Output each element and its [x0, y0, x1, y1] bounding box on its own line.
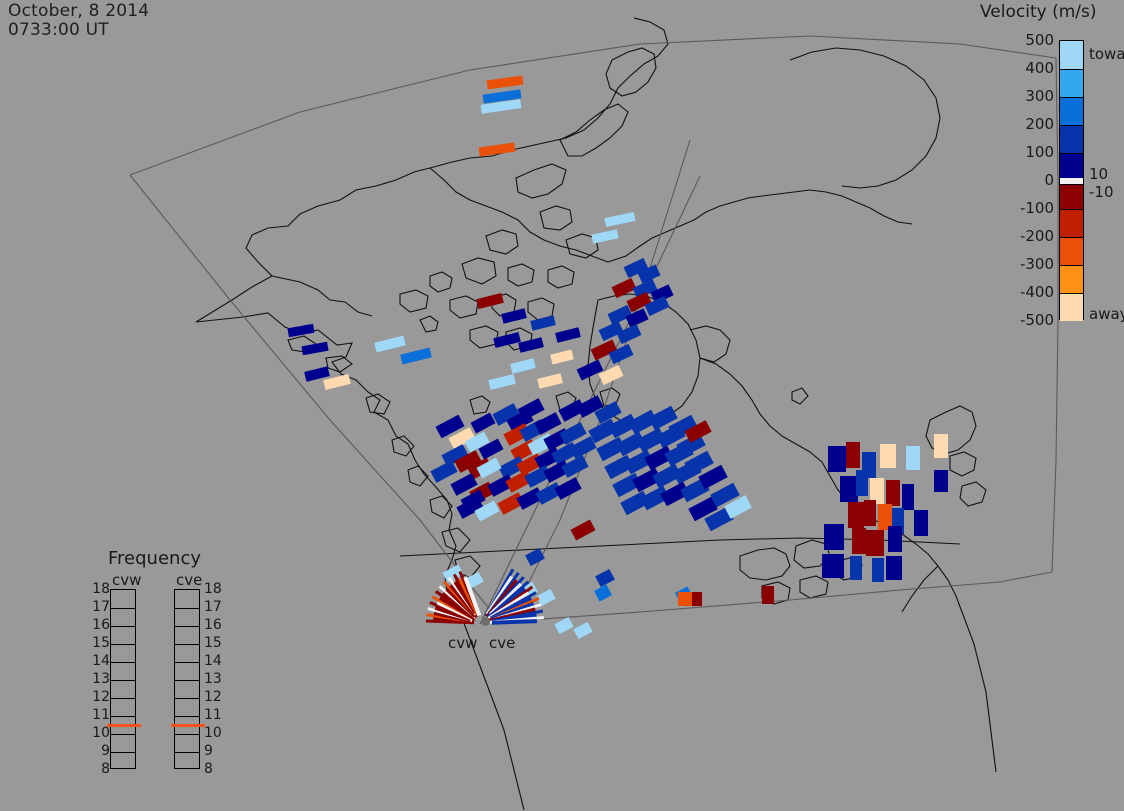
frequency-tick-w-17: 17	[92, 601, 110, 613]
colorbar-band-3	[1060, 125, 1083, 153]
frequency-marker-w	[107, 724, 141, 727]
colorbar-tick-500: 500	[1025, 34, 1054, 46]
frequency-tick-e-17: 17	[204, 601, 222, 613]
frequency-tick-e-11: 11	[204, 709, 222, 721]
colorbar-separator-1	[1060, 97, 1083, 98]
radar-echo-cell	[510, 358, 536, 374]
frequency-bar-cvw	[110, 589, 136, 769]
timestamp-time: 0733:00 UT	[8, 20, 109, 40]
radar-echo-cell	[824, 524, 844, 550]
colorbar-band-7	[1060, 209, 1083, 237]
frequency-segment-w-6	[111, 698, 135, 699]
colorbar-tick-400: 400	[1025, 62, 1054, 74]
colorbar-band-8	[1060, 237, 1083, 265]
frequency-legend-title: Frequency	[108, 548, 201, 569]
radar-echo-cell	[848, 502, 864, 528]
radar-echo-cell	[856, 470, 868, 496]
radar-echo-cell	[400, 348, 432, 365]
colorbar-tick-0: 0	[1044, 174, 1054, 186]
frequency-segment-e-5	[175, 680, 199, 681]
frequency-segment-w-5	[111, 680, 135, 681]
radar-echo-cell	[880, 444, 896, 468]
radar-echo-cell	[678, 592, 692, 606]
frequency-segment-w-1	[111, 608, 135, 609]
velocity-colorbar: Velocity (m/s) 5004003002001000-100-200-…	[976, 2, 1124, 332]
frequency-segment-e-7	[175, 716, 199, 717]
radar-velocity-map: October, 8 20140733:00 UT Velocity (m/s)…	[0, 0, 1124, 811]
radar-echo-cell	[476, 293, 504, 309]
radar-echo-cell	[555, 327, 581, 343]
radar-echo-cell	[850, 556, 862, 580]
colorbar-gradient	[1059, 40, 1084, 320]
frequency-segment-e-1	[175, 608, 199, 609]
frequency-tick-e-15: 15	[204, 637, 222, 649]
colorbar-tick-minus400: -400	[1020, 286, 1054, 298]
colorbar-away-label: away	[1089, 308, 1124, 320]
radar-echo-cell	[934, 470, 948, 492]
frequency-tick-w-10: 10	[92, 727, 110, 739]
frequency-tick-w-12: 12	[92, 691, 110, 703]
radar-echo-cell	[864, 500, 876, 526]
colorbar-separator-0	[1060, 69, 1083, 70]
colorbar-tick-200: 200	[1025, 118, 1054, 130]
frequency-column-label-cvw: cvw	[112, 571, 141, 589]
near-range-radial-fan	[420, 555, 610, 645]
colorbar-separator-3	[1060, 153, 1083, 154]
frequency-segment-e-9	[175, 752, 199, 753]
frequency-segment-e-2	[175, 626, 199, 627]
radar-echo-cell	[554, 477, 581, 500]
frequency-segment-w-3	[111, 644, 135, 645]
radar-echo-cell	[934, 434, 948, 458]
radar-site-label-cve: cve	[489, 634, 515, 652]
frequency-segment-e-4	[175, 662, 199, 663]
radar-echo-cell	[430, 460, 457, 483]
radar-echo-cell	[479, 143, 516, 157]
colorbar-separator-4	[1060, 184, 1083, 185]
radar-site-label-cvw: cvw	[448, 634, 477, 652]
colorbar-band-6	[1060, 184, 1083, 209]
radar-echo-cell	[852, 528, 866, 554]
colorbar-tick-minus300: -300	[1020, 258, 1054, 270]
colorbar-band-0	[1060, 41, 1083, 69]
colorbar-toward-label: toward	[1089, 48, 1124, 60]
radar-echo-cell	[287, 324, 314, 337]
frequency-tick-e-12: 12	[204, 691, 222, 703]
colorbar-tick-minus100: -100	[1020, 202, 1054, 214]
radar-echo-cell	[762, 586, 774, 604]
radar-echo-cell	[470, 413, 495, 434]
frequency-segment-w-9	[111, 752, 135, 753]
colorbar-band-4	[1060, 153, 1083, 178]
radar-echo-cell	[886, 480, 900, 506]
frequency-segment-e-6	[175, 698, 199, 699]
frequency-tick-w-9: 9	[92, 745, 110, 757]
radar-echo-cell	[493, 332, 521, 348]
radar-echo-cell	[501, 308, 527, 324]
radar-echo-cell	[550, 349, 574, 364]
radial-beam	[492, 621, 537, 623]
radar-echo-cell	[488, 374, 516, 390]
frequency-segment-w-2	[111, 626, 135, 627]
frequency-segment-e-3	[175, 644, 199, 645]
colorbar-tick-100: 100	[1025, 146, 1054, 158]
radar-echo-cell	[888, 526, 902, 552]
colorbar-separator-6	[1060, 237, 1083, 238]
radar-echo-cell	[301, 342, 328, 355]
timestamp-date: October, 8 2014	[8, 1, 149, 21]
frequency-tick-w-16: 16	[92, 619, 110, 631]
colorbar-tick-minus200: -200	[1020, 230, 1054, 242]
frequency-segment-e-8	[175, 734, 199, 735]
frequency-column-label-cve: cve	[176, 571, 202, 589]
colorbar-band-2	[1060, 97, 1083, 125]
radar-echo-cell	[822, 554, 844, 578]
frequency-tick-w-13: 13	[92, 673, 110, 685]
colorbar-separator-2	[1060, 125, 1083, 126]
frequency-marker-e	[171, 724, 205, 727]
radar-echo-cell	[872, 558, 884, 582]
frequency-tick-e-13: 13	[204, 673, 222, 685]
frequency-bar-cve	[174, 589, 200, 769]
colorbar-plus-ten-label: 10	[1089, 168, 1108, 180]
radar-echo-cell	[518, 337, 544, 353]
radar-echo-cell	[487, 76, 524, 90]
frequency-tick-e-14: 14	[204, 655, 222, 667]
frequency-segment-w-7	[111, 716, 135, 717]
colorbar-tick-labels: 5004003002001000-100-200-300-400-500	[976, 2, 1054, 332]
radar-echo-cell	[537, 373, 563, 389]
radar-echo-cell	[570, 520, 595, 541]
radar-echo-cell	[591, 229, 618, 243]
frequency-tick-e-8: 8	[204, 763, 222, 775]
colorbar-separator-8	[1060, 293, 1083, 294]
frequency-segment-w-8	[111, 734, 135, 735]
frequency-tick-e-10: 10	[204, 727, 222, 739]
colorbar-tick-minus500: -500	[1020, 314, 1054, 326]
radar-echo-cell	[692, 592, 702, 606]
radar-echo-cell	[886, 556, 902, 580]
radar-echo-cell	[914, 510, 928, 536]
colorbar-band-1	[1060, 69, 1083, 97]
radar-echo-cell	[604, 212, 635, 227]
frequency-tick-w-11: 11	[92, 709, 110, 721]
frequency-tick-w-15: 15	[92, 637, 110, 649]
frequency-tick-e-16: 16	[204, 619, 222, 631]
timestamp: October, 8 20140733:00 UT	[8, 2, 149, 40]
frequency-legend: Frequency cvw cve 18171615141312111098 1…	[86, 548, 256, 783]
colorbar-separator-5	[1060, 209, 1083, 210]
radar-echo-cell	[866, 530, 884, 556]
colorbar-separator-7	[1060, 265, 1083, 266]
frequency-tick-w-8: 8	[92, 763, 110, 775]
radar-echo-cell	[906, 446, 920, 470]
colorbar-minus-ten-label: -10	[1089, 186, 1114, 198]
radar-echo-cell	[374, 336, 406, 353]
radar-echo-cell	[828, 446, 846, 472]
colorbar-tick-300: 300	[1025, 90, 1054, 102]
frequency-tick-w-18: 18	[92, 583, 110, 595]
radar-echo-cell	[530, 315, 556, 331]
radar-site-marker	[481, 617, 490, 626]
frequency-tick-e-9: 9	[204, 745, 222, 757]
frequency-tick-w-14: 14	[92, 655, 110, 667]
colorbar-band-10	[1060, 293, 1083, 321]
radar-echo-cell	[846, 442, 860, 468]
frequency-segment-w-4	[111, 662, 135, 663]
frequency-tick-e-18: 18	[204, 583, 222, 595]
colorbar-band-9	[1060, 265, 1083, 293]
radar-echo-cell	[902, 484, 914, 510]
